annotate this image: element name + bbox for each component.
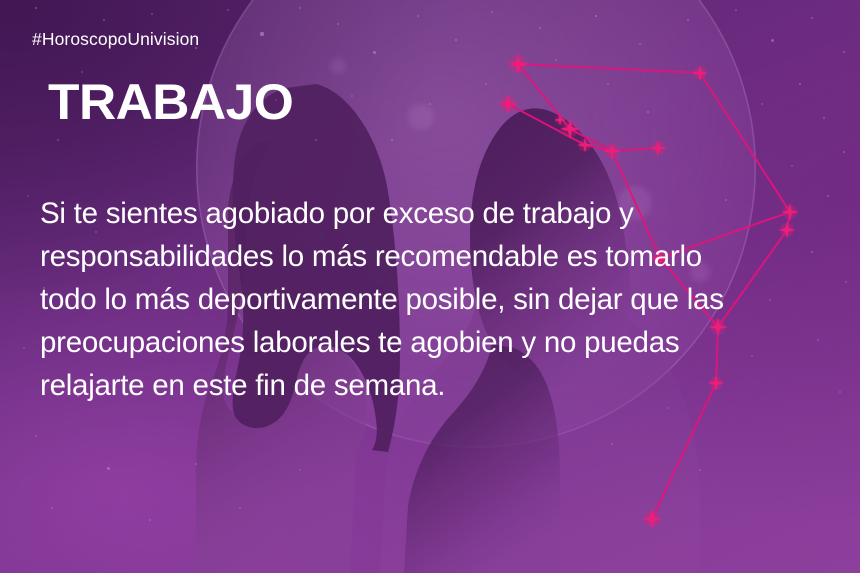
horoscope-card: #HoroscopoUnivision TRABAJO Si te siente… bbox=[0, 0, 860, 573]
background-star bbox=[761, 103, 763, 105]
background-star bbox=[35, 435, 37, 437]
horoscope-body-line: relajarte en este fin de semana. bbox=[40, 364, 840, 407]
hashtag-label: #HoroscopoUnivision bbox=[32, 31, 199, 49]
page-title: TRABAJO bbox=[48, 77, 293, 127]
background-star bbox=[195, 463, 198, 466]
background-star bbox=[103, 19, 106, 22]
horoscope-body-line: todo lo más deportivamente posible, sin … bbox=[40, 278, 840, 321]
constellation-star bbox=[642, 509, 662, 529]
background-star bbox=[823, 117, 825, 119]
background-star bbox=[27, 195, 29, 197]
background-star bbox=[35, 7, 37, 9]
background-star bbox=[843, 151, 846, 154]
background-star bbox=[667, 407, 669, 409]
horoscope-body-line: Si te sientes agobiado por exceso de tra… bbox=[40, 192, 840, 235]
background-star bbox=[151, 13, 153, 15]
background-star bbox=[23, 347, 25, 349]
background-star bbox=[843, 51, 845, 53]
background-star bbox=[57, 139, 60, 142]
moon-crater bbox=[330, 58, 346, 74]
horoscope-body-line: preocupaciones laborales te agobien y no… bbox=[40, 321, 840, 364]
background-star bbox=[699, 469, 702, 472]
background-star bbox=[771, 39, 774, 42]
background-star bbox=[791, 165, 793, 167]
sparkle-icon bbox=[642, 509, 662, 529]
background-star bbox=[149, 519, 151, 521]
background-star bbox=[81, 71, 83, 73]
background-star bbox=[51, 507, 53, 509]
background-star bbox=[107, 467, 110, 470]
horoscope-body-line: responsabilidades lo más recomendable es… bbox=[40, 235, 840, 278]
background-star bbox=[239, 507, 241, 509]
moon-crater bbox=[408, 104, 434, 130]
background-star bbox=[735, 9, 737, 11]
horoscope-body-text: Si te sientes agobiado por exceso de tra… bbox=[40, 192, 840, 407]
background-star bbox=[811, 17, 813, 19]
background-star bbox=[799, 83, 802, 86]
background-star bbox=[299, 469, 301, 471]
background-star bbox=[845, 281, 847, 283]
background-star bbox=[227, 9, 229, 11]
background-star bbox=[611, 443, 613, 445]
